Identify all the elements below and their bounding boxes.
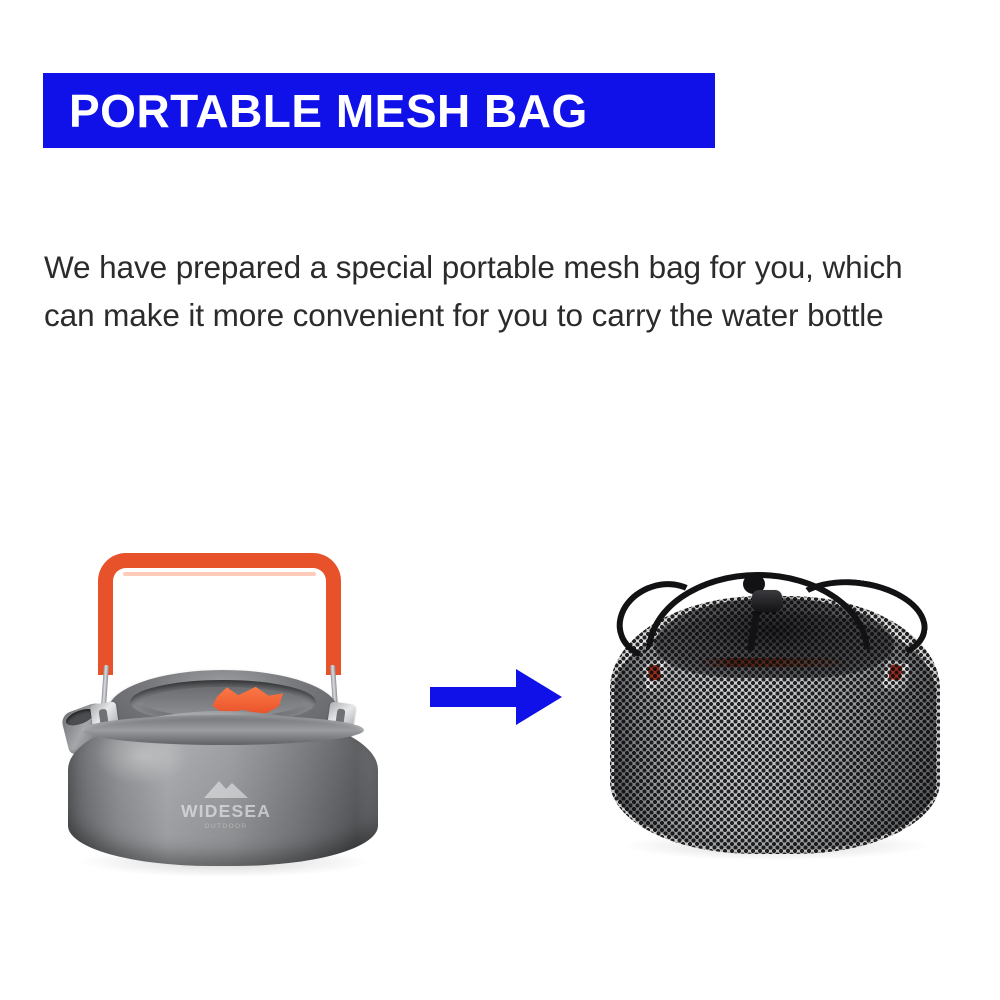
transform-arrow (430, 668, 562, 726)
cord-lock-toggle (752, 590, 782, 612)
kettle-handle (98, 553, 341, 675)
title-banner: PORTABLE MESH BAG (43, 73, 715, 148)
kettle-base-rim (82, 715, 364, 745)
description-paragraph: We have prepared a special portable mesh… (44, 243, 949, 339)
camping-kettle-image: WIDESEA OUTDOOR (60, 525, 390, 870)
product-feature-page: PORTABLE MESH BAG We have prepared a spe… (0, 0, 1000, 1000)
arrow-right-icon (430, 668, 562, 726)
mesh-bag-image (600, 570, 950, 870)
product-comparison-row: WIDESEA OUTDOOR (0, 505, 1000, 875)
page-title: PORTABLE MESH BAG (43, 88, 588, 134)
